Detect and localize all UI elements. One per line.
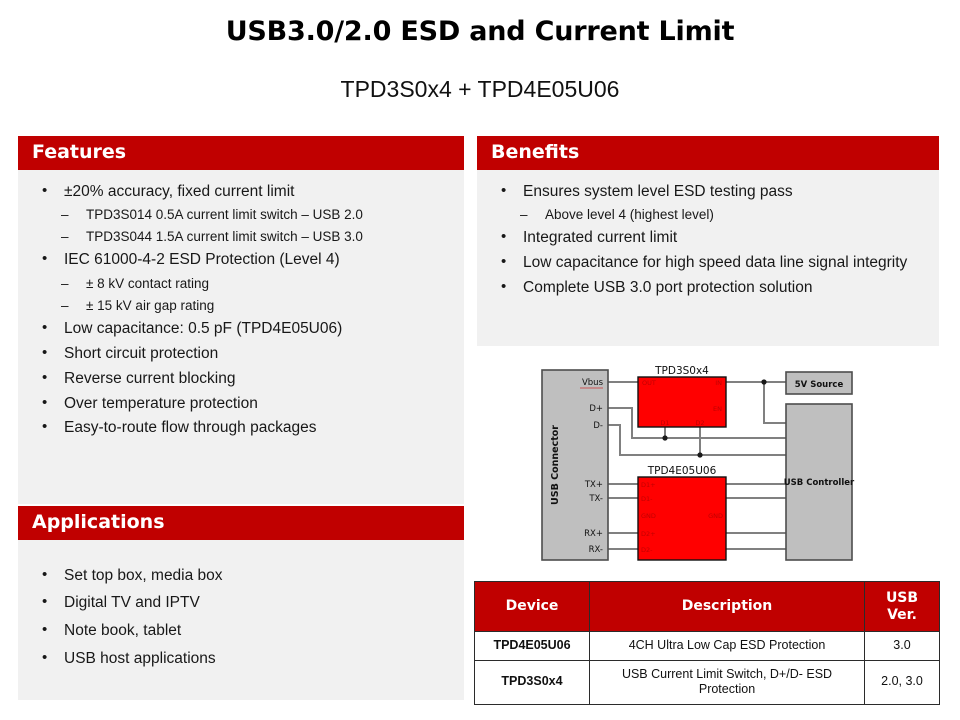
usb-connector-block: USB Connector Vbus D+ D- TX+ TX- RX+ RX-	[542, 370, 608, 560]
cell-device: TPD3S0x4	[475, 660, 590, 704]
svg-text:TPD4E05U06: TPD4E05U06	[647, 465, 717, 477]
feature-item: Low capacitance: 0.5 pF (TPD4E05U06)	[28, 319, 454, 340]
svg-text:TPD3S0x4: TPD3S0x4	[654, 366, 709, 377]
svg-text:USB Connector: USB Connector	[550, 425, 561, 505]
page-subtitle: TPD3S0x4 + TPD4E05U06	[0, 76, 960, 103]
applications-panel: Applications Set top box, media boxDigit…	[18, 506, 464, 700]
svg-text:D2: D2	[695, 419, 704, 427]
connector-pin-label: TX-	[588, 494, 603, 504]
benefits-header: Benefits	[477, 136, 939, 170]
svg-text:D2-: D2-	[641, 546, 653, 554]
svg-text:IN: IN	[715, 379, 722, 387]
svg-text:OUT: OUT	[642, 379, 656, 387]
table-head: Device Description USB Ver.	[475, 582, 940, 632]
applications-list: Set top box, media boxDigital TV and IPT…	[28, 566, 454, 670]
usb-controller-block: USB Controller	[784, 404, 855, 560]
column-header-device: Device	[475, 582, 590, 632]
svg-text:D1+: D1+	[641, 481, 656, 489]
features-body: ±20% accuracy, fixed current limitTPD3S0…	[18, 170, 464, 504]
svg-text:5V Source: 5V Source	[795, 380, 844, 390]
table-row: TPD4E05U064CH Ultra Low Cap ESD Protecti…	[475, 632, 940, 661]
table-header-row: Device Description USB Ver.	[475, 582, 940, 632]
table-row: TPD3S0x4USB Current Limit Switch, D+/D- …	[475, 660, 940, 704]
svg-text:GND: GND	[708, 512, 723, 520]
application-block-diagram: USB Connector Vbus D+ D- TX+ TX- RX+ RX-…	[534, 366, 858, 568]
connector-pin-label: D+	[589, 404, 603, 414]
slide-root: USB3.0/2.0 ESD and Current Limit TPD3S0x…	[0, 0, 960, 720]
benefit-item: Complete USB 3.0 port protection solutio…	[487, 278, 929, 299]
table-body: TPD4E05U064CH Ultra Low Cap ESD Protecti…	[475, 632, 940, 705]
usb-ver-line2: Ver.	[887, 607, 917, 623]
column-header-description: Description	[590, 582, 865, 632]
feature-item: Short circuit protection	[28, 344, 454, 365]
benefit-item: Above level 4 (highest level)	[487, 206, 929, 224]
connector-pin-label: RX-	[589, 545, 603, 555]
application-item: Digital TV and IPTV	[28, 593, 454, 614]
feature-item: ± 8 kV contact rating	[28, 275, 454, 293]
usb-ver-line1: USB	[886, 590, 918, 606]
application-item: USB host applications	[28, 649, 454, 670]
cell-device: TPD4E05U06	[475, 632, 590, 661]
features-panel: Features ±20% accuracy, fixed current li…	[18, 136, 464, 504]
benefit-item: Ensures system level ESD testing pass	[487, 182, 929, 203]
features-list: ±20% accuracy, fixed current limitTPD3S0…	[28, 182, 454, 440]
device-summary-table: Device Description USB Ver. TPD4E05U064C…	[474, 581, 940, 705]
svg-text:EN: EN	[713, 405, 722, 413]
connector-pin-label: D-	[593, 421, 603, 431]
svg-text:D2+: D2+	[641, 530, 656, 538]
benefits-panel: Benefits Ensures system level ESD testin…	[477, 136, 939, 346]
feature-item: Reverse current blocking	[28, 369, 454, 390]
cell-description: 4CH Ultra Low Cap ESD Protection	[590, 632, 865, 661]
feature-item: ±20% accuracy, fixed current limit	[28, 182, 454, 203]
feature-item: Over temperature protection	[28, 394, 454, 415]
application-item: Set top box, media box	[28, 566, 454, 587]
connector-pin-label: TX+	[584, 480, 603, 490]
svg-text:USB Controller: USB Controller	[784, 478, 855, 488]
feature-item: TPD3S044 1.5A current limit switch – USB…	[28, 228, 454, 246]
applications-header: Applications	[18, 506, 464, 540]
benefit-item: Integrated current limit	[487, 228, 929, 249]
tpd4e05u06-block: TPD4E05U06 D1+ D1- GND D2+ D2- GND	[638, 465, 726, 560]
page-title: USB3.0/2.0 ESD and Current Limit	[0, 16, 960, 47]
connector-pin-label: Vbus	[582, 378, 604, 388]
cell-usb-version: 3.0	[865, 632, 940, 661]
benefits-body: Ensures system level ESD testing passAbo…	[477, 170, 939, 346]
tpd3s0x4-block: TPD3S0x4 OUT IN EN D1 D2	[638, 366, 726, 427]
benefit-item: Low capacitance for high speed data line…	[487, 253, 929, 274]
five-volt-source-block: 5V Source	[786, 372, 852, 394]
benefits-list: Ensures system level ESD testing passAbo…	[487, 182, 929, 299]
features-header: Features	[18, 136, 464, 170]
column-header-usb-version: USB Ver.	[865, 582, 940, 632]
feature-item: IEC 61000-4-2 ESD Protection (Level 4)	[28, 250, 454, 271]
applications-body: Set top box, media boxDigital TV and IPT…	[18, 540, 464, 700]
feature-item: TPD3S014 0.5A current limit switch – USB…	[28, 206, 454, 224]
cell-usb-version: 2.0, 3.0	[865, 660, 940, 704]
svg-text:D1-: D1-	[641, 495, 653, 503]
feature-item: Easy-to-route flow through packages	[28, 418, 454, 439]
connector-pin-label: RX+	[584, 529, 603, 539]
feature-item: ± 15 kV air gap rating	[28, 297, 454, 315]
svg-text:GND: GND	[641, 512, 656, 520]
application-item: Note book, tablet	[28, 621, 454, 642]
cell-description: USB Current Limit Switch, D+/D- ESD Prot…	[590, 660, 865, 704]
svg-text:D1: D1	[660, 419, 669, 427]
